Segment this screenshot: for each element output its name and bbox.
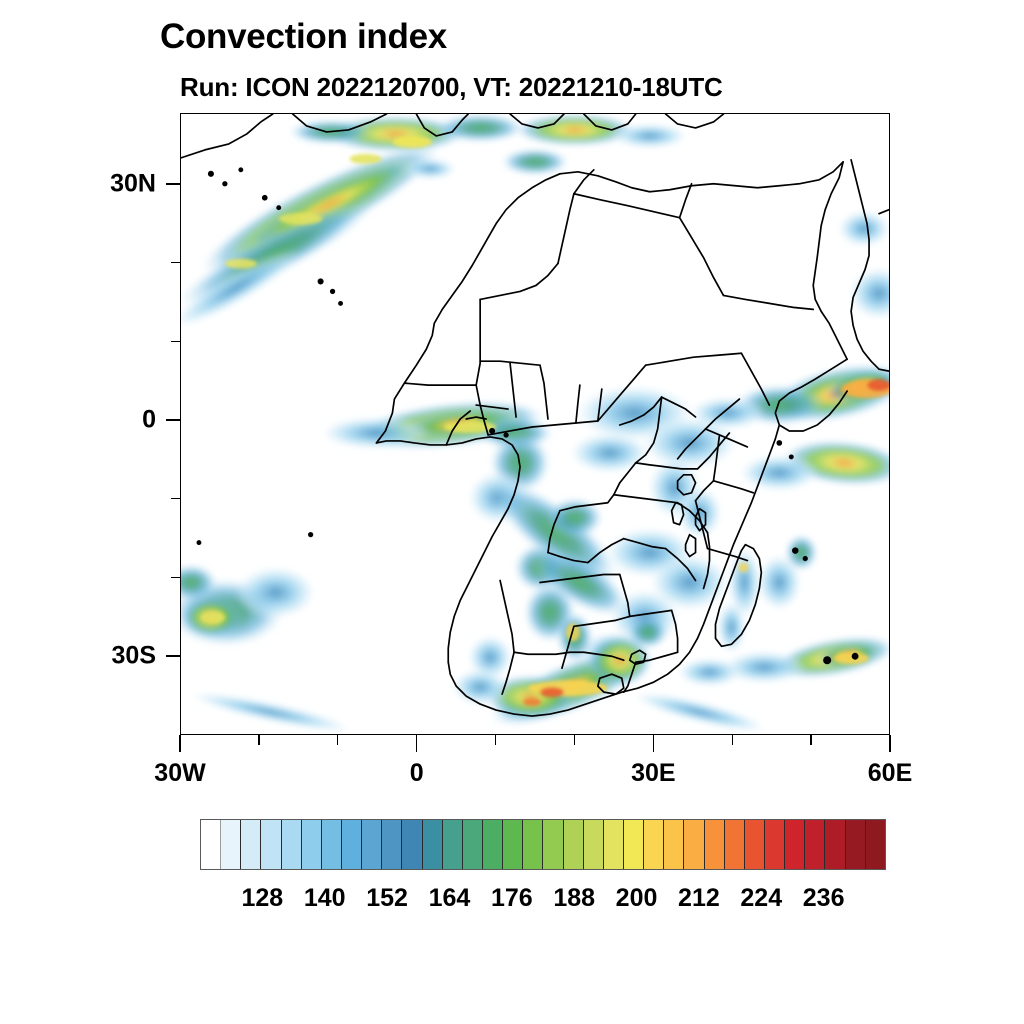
colorbar-cell[interactable]	[463, 820, 483, 869]
colorbar-cell[interactable]	[664, 820, 684, 869]
colorbar-cell[interactable]	[423, 820, 443, 869]
colorbar[interactable]	[200, 819, 886, 870]
y-tick-major	[166, 183, 180, 185]
colorbar-cell[interactable]	[705, 820, 725, 869]
colorbar-tick-label: 200	[616, 884, 658, 913]
colorbar-cell[interactable]	[564, 820, 584, 869]
colorbar-cell[interactable]	[201, 820, 221, 869]
colorbar-cell[interactable]	[443, 820, 463, 869]
colorbar-cell[interactable]	[362, 820, 382, 869]
map-canvas	[181, 114, 889, 734]
x-tick-minor	[810, 735, 811, 745]
colorbar-cell[interactable]	[785, 820, 805, 869]
colorbar-cell[interactable]	[805, 820, 825, 869]
x-tick-minor	[732, 735, 733, 745]
map-plot-area	[180, 113, 890, 735]
colorbar-cell[interactable]	[241, 820, 261, 869]
colorbar-cell[interactable]	[261, 820, 281, 869]
x-axis-label: 30W	[154, 759, 205, 788]
colorbar-cell[interactable]	[725, 820, 745, 869]
colorbar-tick-label: 164	[429, 884, 471, 913]
colorbar-cell[interactable]	[543, 820, 563, 869]
x-tick-minor	[495, 735, 496, 745]
page-title: Convection index	[160, 17, 447, 57]
colorbar-cell[interactable]	[503, 820, 523, 869]
x-axis-label: 0	[410, 759, 424, 788]
colorbar-cell[interactable]	[745, 820, 765, 869]
colorbar-cell[interactable]	[302, 820, 322, 869]
run-valid-time-subtitle: Run: ICON 2022120700, VT: 20221210-18UTC	[180, 72, 723, 103]
colorbar-tick-label: 224	[740, 884, 782, 913]
y-tick-minor	[171, 262, 180, 263]
colorbar-cell[interactable]	[483, 820, 503, 869]
colorbar-tick-label: 236	[803, 884, 845, 913]
colorbar-cell[interactable]	[644, 820, 664, 869]
colorbar-cell[interactable]	[402, 820, 422, 869]
colorbar-cell[interactable]	[584, 820, 604, 869]
colorbar-cell[interactable]	[846, 820, 866, 869]
y-tick-minor	[171, 577, 180, 578]
colorbar-cell[interactable]	[322, 820, 342, 869]
y-tick-minor	[171, 498, 180, 499]
colorbar-cell[interactable]	[342, 820, 362, 869]
colorbar-cell[interactable]	[866, 820, 885, 869]
x-tick-minor	[258, 735, 259, 745]
y-axis-label: 30S	[0, 642, 156, 671]
colorbar-tick-label: 152	[366, 884, 408, 913]
convection-index-figure: Convection index Run: ICON 2022120700, V…	[0, 0, 1024, 1024]
x-tick-minor	[574, 735, 575, 745]
colorbar-cell[interactable]	[523, 820, 543, 869]
colorbar-cell[interactable]	[382, 820, 402, 869]
colorbar-tick-label: 176	[491, 884, 533, 913]
y-axis-label: 0	[0, 406, 156, 435]
colorbar-cell[interactable]	[221, 820, 241, 869]
colorbar-cell[interactable]	[765, 820, 785, 869]
x-tick-major	[653, 735, 655, 752]
colorbar-tick-label: 140	[304, 884, 346, 913]
colorbar-cell[interactable]	[624, 820, 644, 869]
y-axis-label: 30N	[0, 169, 156, 198]
x-axis-label: 60E	[868, 759, 912, 788]
colorbar-cell[interactable]	[604, 820, 624, 869]
x-tick-major	[416, 735, 418, 752]
colorbar-tick-label: 212	[678, 884, 720, 913]
x-tick-major	[889, 735, 891, 752]
x-tick-minor	[337, 735, 338, 745]
x-axis-label: 30E	[631, 759, 675, 788]
y-tick-major	[166, 419, 180, 421]
y-tick-minor	[171, 341, 180, 342]
x-tick-major	[179, 735, 181, 752]
y-tick-major	[166, 655, 180, 657]
colorbar-tick-label: 128	[242, 884, 284, 913]
colorbar-cell[interactable]	[825, 820, 845, 869]
colorbar-cell[interactable]	[282, 820, 302, 869]
colorbar-tick-label: 188	[553, 884, 595, 913]
colorbar-cell[interactable]	[684, 820, 704, 869]
